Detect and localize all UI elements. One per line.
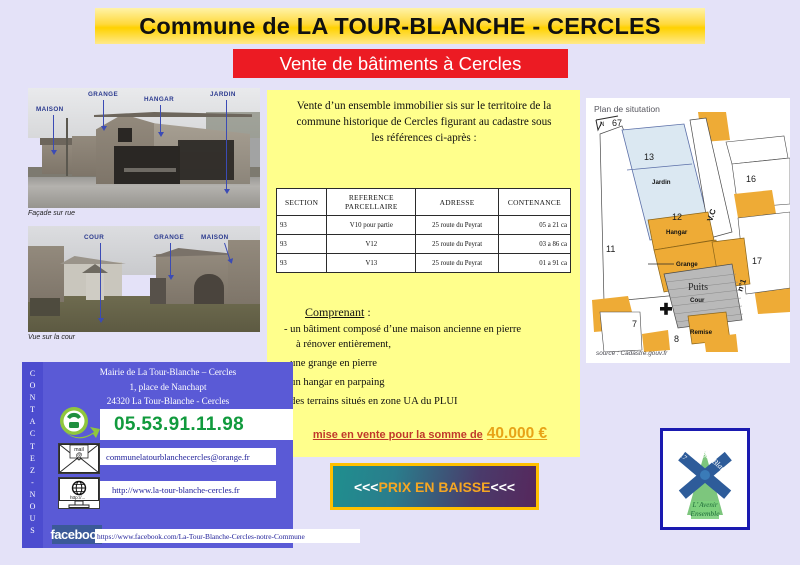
phone-number: 05.53.91.11.98: [114, 414, 244, 436]
email-band[interactable]: communelatourblanchecercles@orange.fr: [100, 448, 276, 465]
contactez-nous-letters: C O N T A C T E Z - N O U S: [22, 368, 43, 537]
cadastre-map: N 67 13 11 12 16 17 7 8 Jardin Hangar Gr…: [586, 112, 790, 352]
map-parcel-17: 17: [752, 256, 762, 266]
mairie-line-1: Mairie de La Tour-Blanche – Cercles: [43, 365, 293, 380]
cell-contenance: 03 a 86 ca: [498, 235, 570, 254]
facebook-band[interactable]: https://www.facebook.com/La-Tour-Blanche…: [95, 529, 360, 543]
comprenant-colon: :: [364, 305, 370, 319]
photo-facade-caption: Façade sur rue: [28, 210, 75, 217]
offer-intro-line-1: Vente d’un ensemble immobilier sis sur l…: [278, 98, 570, 114]
website-icon: http://...: [58, 477, 100, 509]
cell-contenance: 01 a 91 ca: [498, 254, 570, 273]
logo-slogan-line-2: Ensemble: [689, 509, 720, 518]
map-label-puits: Puits: [688, 282, 708, 293]
list-item: - une grange en pierre: [284, 357, 574, 371]
mail-icon-text-2: @: [76, 452, 82, 459]
photo-label-maison: MAISON: [36, 106, 64, 113]
plan-source: source : Cadastre.gouv.fr: [596, 350, 667, 357]
website-icon-text: http://...: [70, 495, 85, 500]
cell-reference: V10 pour partie: [327, 216, 416, 235]
banner-text: PRIX EN BAISSE: [378, 479, 490, 495]
photo-label-grange: GRANGE: [88, 91, 118, 98]
cell-adresse: 25 route du Peyrat: [416, 216, 498, 235]
page-subtitle-banner: Vente de bâtiments à Cercles: [233, 49, 568, 78]
photo-label-cour: COUR: [84, 234, 104, 241]
cell-adresse: 25 route du Peyrat: [416, 254, 498, 273]
map-parcel-7: 7: [632, 319, 637, 329]
poster-page: Commune de LA TOUR-BLANCHE - CERCLES Ven…: [0, 0, 800, 565]
cadastre-table: SECTION REFERENCE PARCELLAIRE ADRESSE CO…: [276, 188, 571, 273]
commune-logo: La Tour-Blanche Cercles 2017 L’ Avenir E…: [660, 428, 750, 530]
cell-reference: V12: [327, 235, 416, 254]
map-label-jardin: Jardin: [652, 179, 671, 186]
website-url: http://www.la-tour-blanche-cercles.fr: [112, 485, 240, 495]
map-parcel-16: 16: [746, 174, 756, 184]
col-reference-parcellaire: REFERENCE PARCELLAIRE: [327, 189, 416, 216]
photo-cour-image: [28, 226, 260, 332]
cell-adresse: 25 route du Peyrat: [416, 235, 498, 254]
banner-chevrons-left: <<<: [354, 479, 379, 495]
col-section: SECTION: [277, 189, 327, 216]
cell-section: 93: [277, 235, 327, 254]
col-reference-line2: PARCELLAIRE: [329, 202, 413, 211]
cell-contenance: 05 a 21 ca: [498, 216, 570, 235]
cell-section: 93: [277, 216, 327, 235]
map-parcel-12: 12: [672, 212, 682, 222]
mairie-address-block: Mairie de La Tour-Blanche – Cercles 1, p…: [43, 362, 293, 408]
photo-label-hangar: HANGAR: [144, 96, 174, 103]
logo-slogan-line-1: L’ Avenir: [691, 501, 717, 509]
map-label-cour: Cour: [690, 297, 705, 304]
map-north-label: N: [600, 122, 604, 128]
cell-reference: V13: [327, 254, 416, 273]
map-parcel-13: 13: [644, 152, 654, 162]
col-contenance: CONTENANCE: [498, 189, 570, 216]
list-item-continuation: à rénover entièrement,: [296, 338, 574, 352]
cell-section: 93: [277, 254, 327, 273]
photo-vue-sur-la-cour: COUR GRANGE MAISON: [28, 226, 260, 332]
page-title-banner: Commune de LA TOUR-BLANCHE - CERCLES: [95, 8, 705, 44]
windmill-logo-icon: La Tour-Blanche Cercles 2017 L’ Avenir E…: [663, 431, 747, 527]
list-item: - un hangar en parpaing: [284, 376, 574, 390]
price-lead-text: mise en vente pour la somme de: [313, 429, 483, 441]
photo-label-maison-2: MAISON: [201, 234, 229, 241]
mairie-line-2: 1, place de Nanchapt: [43, 380, 293, 395]
col-adresse: ADRESSE: [416, 189, 498, 216]
list-item: - un bâtiment composé d’une maison ancie…: [284, 323, 574, 337]
comprenant-list: - un bâtiment composé d’une maison ancie…: [284, 323, 574, 414]
col-reference-line1: REFERENCE: [329, 193, 413, 202]
page-subtitle: Vente de bâtiments à Cercles: [280, 53, 522, 75]
price-line: mise en vente pour la somme de 40.000 €: [300, 425, 560, 443]
website-band[interactable]: http://www.la-tour-blanche-cercles.fr: [100, 481, 276, 498]
photo-facade-sur-rue: MAISON GRANGE HANGAR JARDIN: [28, 88, 260, 208]
photo-label-jardin: JARDIN: [210, 91, 236, 98]
price-amount: 40.000 €: [487, 425, 547, 442]
table-row: 93 V10 pour partie 25 route du Peyrat 05…: [277, 216, 571, 235]
map-parcel-67: 67: [612, 118, 622, 128]
banner-chevrons-right: <<<: [491, 479, 516, 495]
list-item: - des terrains situés en zone UA du PLUI: [284, 395, 574, 409]
page-title: Commune de LA TOUR-BLANCHE - CERCLES: [139, 13, 661, 40]
offer-intro-line-3: les références ci-après :: [278, 130, 570, 146]
email-address: communelatourblanchecercles@orange.fr: [106, 452, 250, 462]
map-parcel-11: 11: [606, 244, 615, 254]
map-parcel-8: 8: [674, 334, 679, 344]
facebook-url: https://www.facebook.com/La-Tour-Blanche…: [97, 532, 305, 541]
map-label-grange: Grange: [676, 261, 698, 268]
mail-icon: mail @: [58, 443, 100, 474]
table-header-row: SECTION REFERENCE PARCELLAIRE ADRESSE CO…: [277, 189, 571, 216]
prix-en-baisse-banner[interactable]: <<<PRIX EN BAISSE<<<: [330, 463, 539, 510]
map-label-hangar: Hangar: [666, 229, 688, 236]
photo-label-grange-2: GRANGE: [154, 234, 184, 241]
phone-number-band[interactable]: 05.53.91.11.98: [100, 409, 293, 440]
photo-cour-caption: Vue sur la cour: [28, 334, 75, 341]
offer-intro: Vente d’un ensemble immobilier sis sur l…: [278, 98, 570, 146]
table-row: 93 V12 25 route du Peyrat 03 a 86 ca: [277, 235, 571, 254]
contactez-nous-strip: C O N T A C T E Z - N O U S: [22, 362, 43, 548]
map-label-remise: Remise: [690, 329, 713, 336]
comprenant-heading: Comprenant :: [305, 305, 371, 320]
offer-intro-line-2: commune historique de Cercles figurant a…: [278, 114, 570, 130]
phone-icon: [56, 405, 100, 443]
comprenant-label: Comprenant: [305, 305, 364, 319]
table-row: 93 V13 25 route du Peyrat 01 a 91 ca: [277, 254, 571, 273]
